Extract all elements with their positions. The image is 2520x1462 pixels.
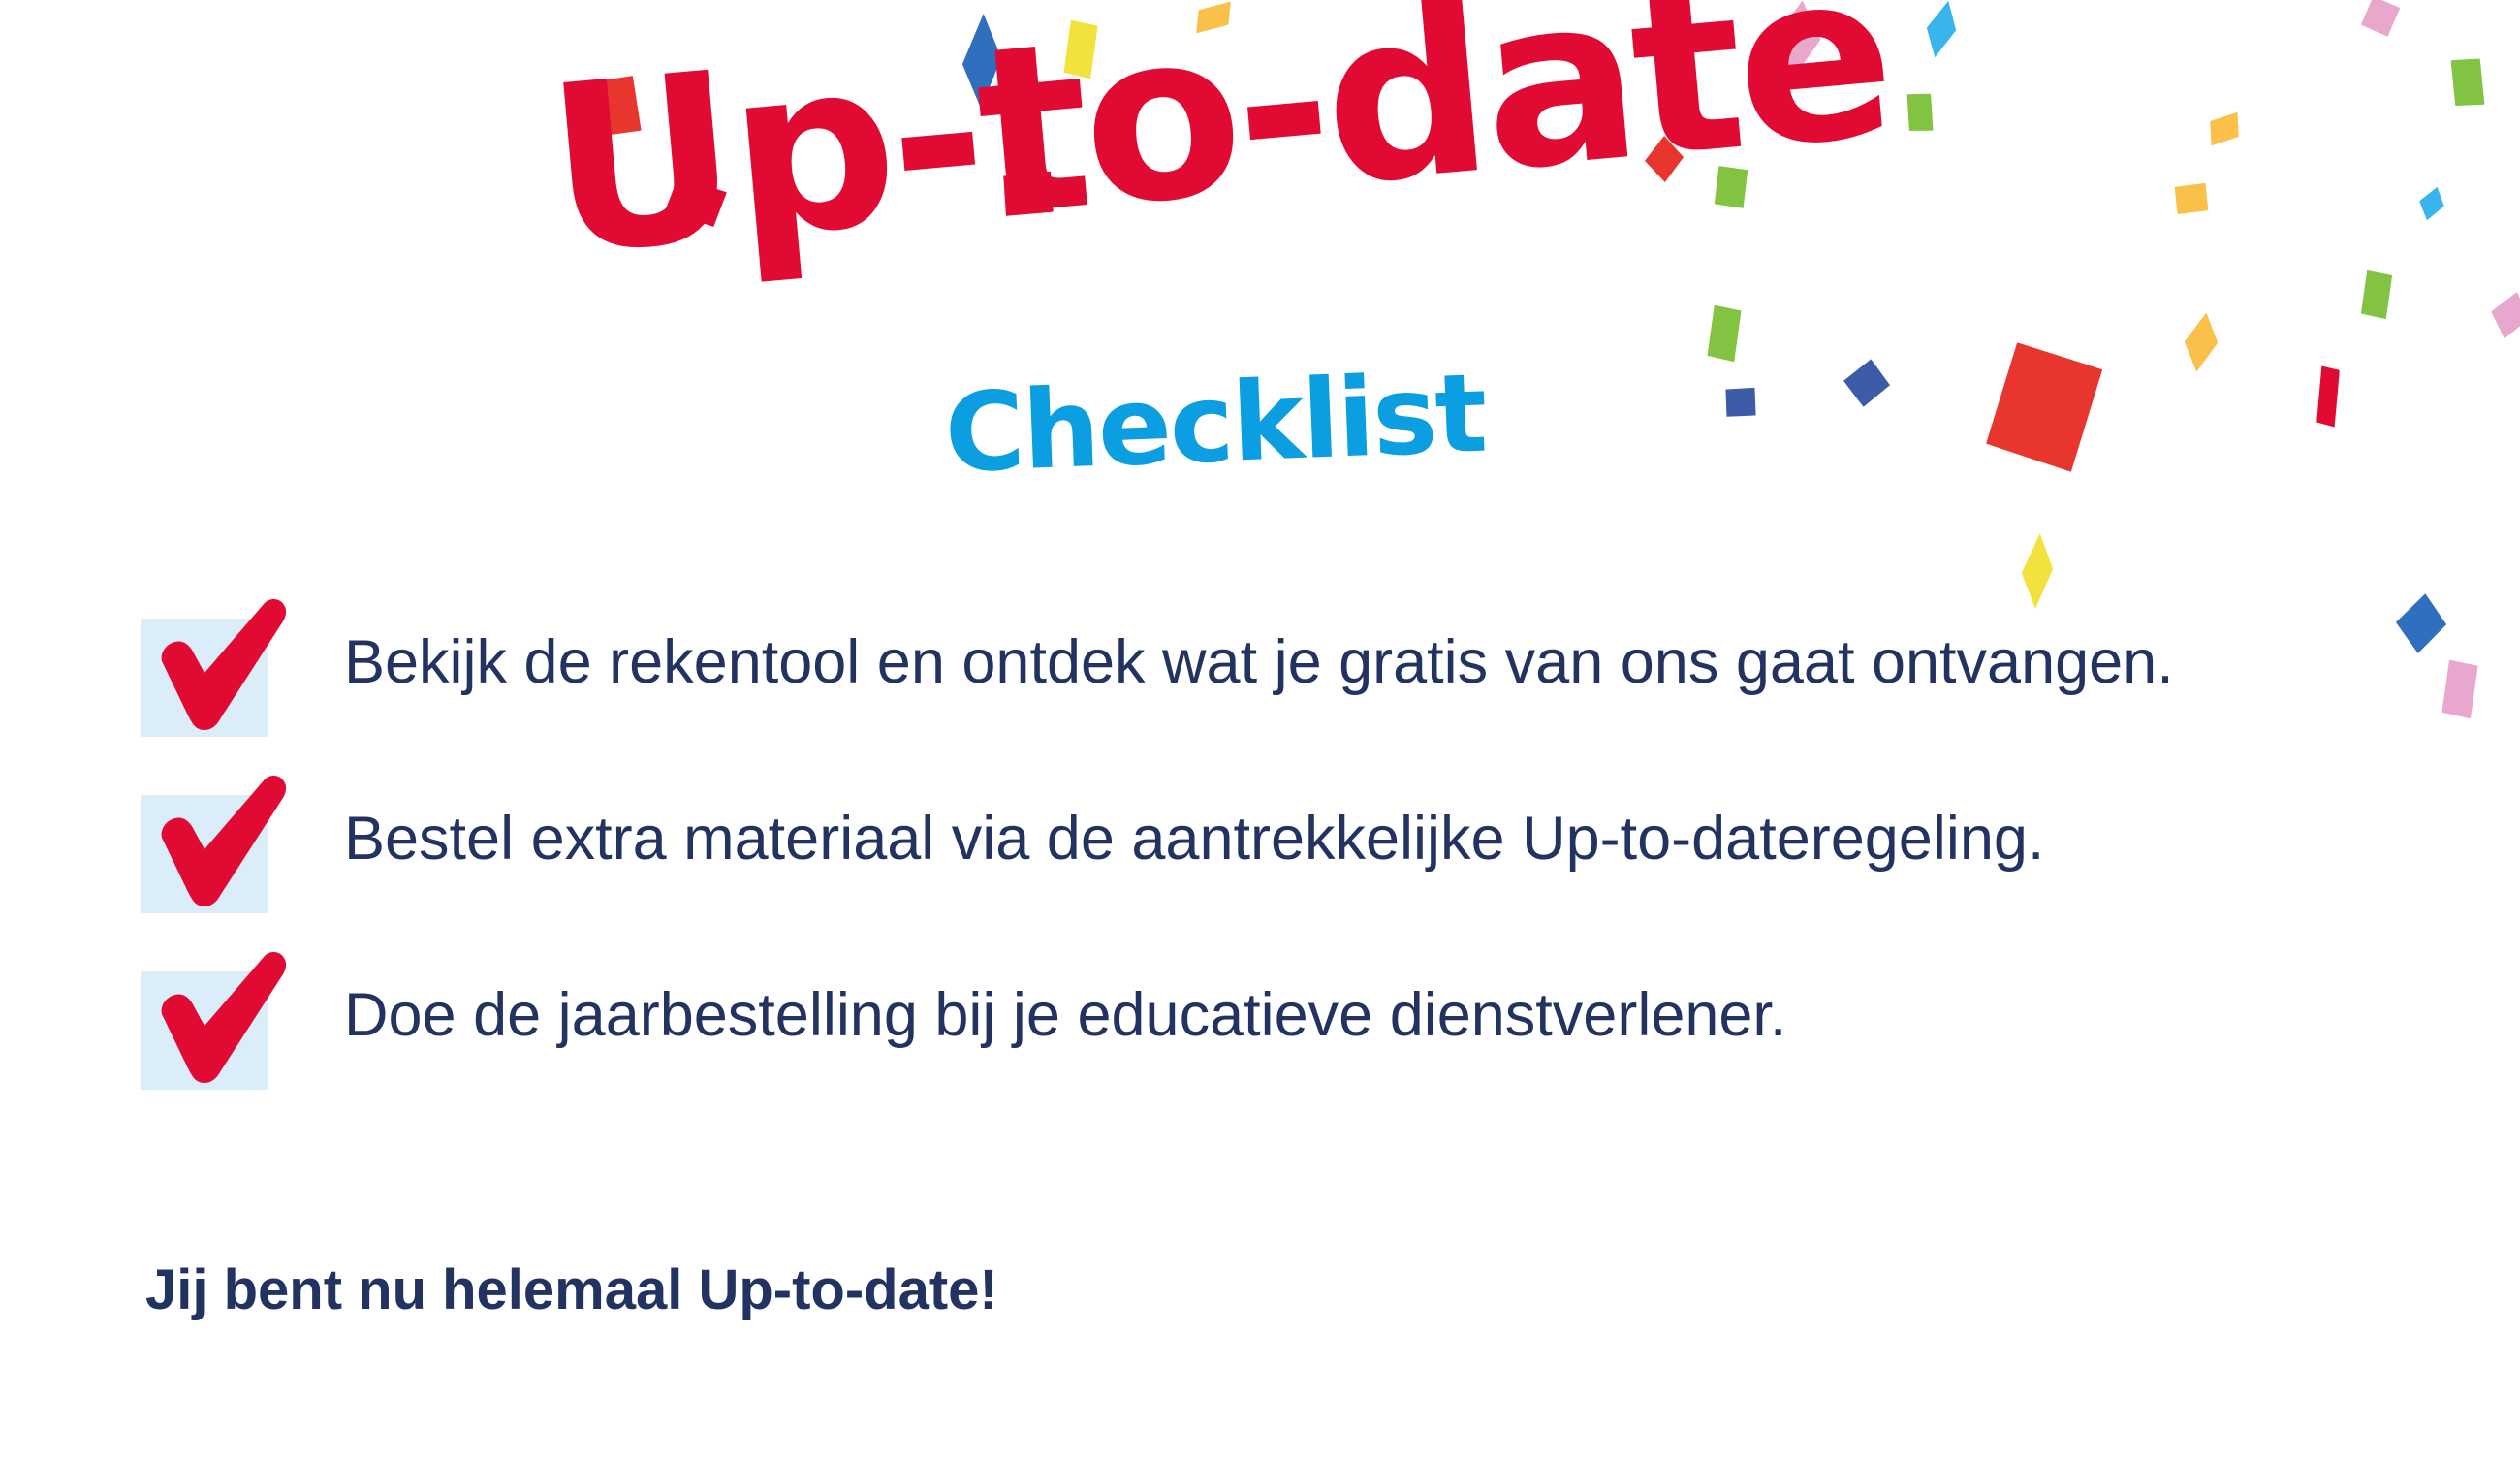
red-checkmark-icon — [150, 601, 305, 747]
checklist-item[interactable]: Doe de jaarbestelling bij je educatieve … — [141, 964, 2409, 1140]
page-title: Up-to-date — [540, 0, 2013, 338]
page-subtitle: Checklist — [943, 360, 1488, 489]
red-checkmark-icon — [150, 954, 305, 1099]
checklist-item-label: Doe de jaarbestelling bij je educatieve … — [344, 979, 1786, 1051]
checklist: Bekijk de rekentool en ontdek wat je gra… — [141, 611, 2409, 1140]
closing-statement: Jij bent nu helemaal Up-to-date! — [145, 1256, 998, 1324]
checklist-item-label: Bekijk de rekentool en ontdek wat je gra… — [344, 626, 2174, 698]
checklist-item[interactable]: Bestel extra materiaal via de aantrekkel… — [141, 787, 2409, 964]
red-checkmark-icon — [150, 778, 305, 923]
confetti-pink-quad-1 — [2441, 659, 2478, 718]
poster-header: Up-to-date Checklist — [0, 0, 2520, 543]
checklist-poster: Up-to-date Checklist Bekijk de rekentool… — [0, 0, 2520, 1462]
checklist-item[interactable]: Bekijk de rekentool en ontdek wat je gra… — [141, 611, 2409, 787]
checklist-item-label: Bestel extra materiaal via de aantrekkel… — [344, 803, 2044, 874]
confetti-yellow-diamond-1 — [2019, 532, 2055, 610]
